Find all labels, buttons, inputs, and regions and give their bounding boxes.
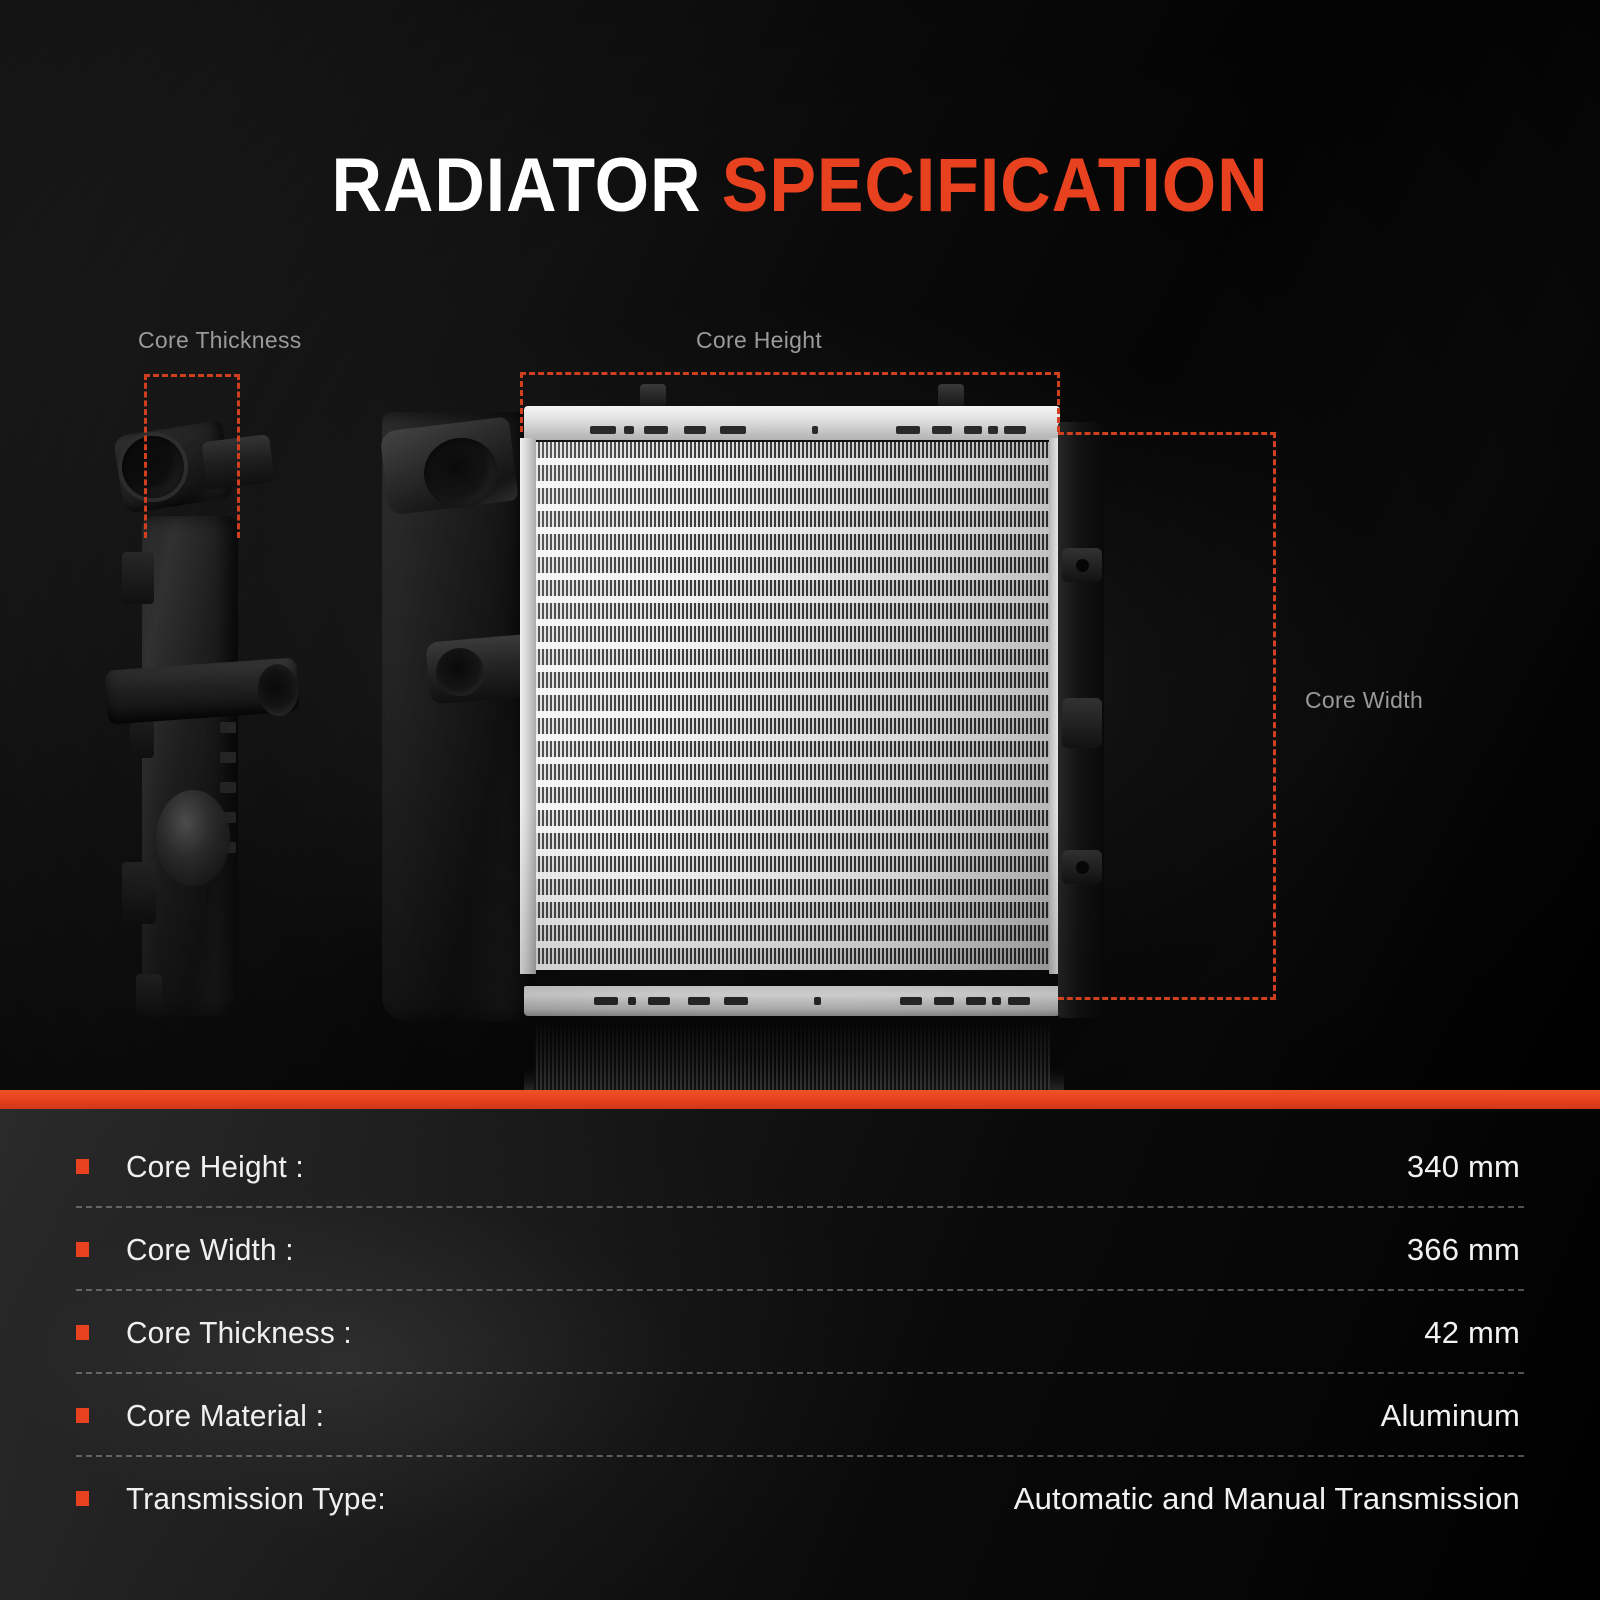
bullet-square-icon [76,1408,89,1423]
specification-panel: Core Height :340 mmCore Width :366 mmCor… [0,1109,1600,1600]
footer-tank-slot [1008,997,1030,1005]
bullet-square-icon [76,1159,89,1174]
core-height-guide-box [520,372,1060,432]
hero-section: Core Thickness Core Height Core Width RA… [0,0,1600,1090]
side-view-mount-tab [122,862,156,924]
page-title: RADIATOR SPECIFICATION [64,146,1536,226]
radiator-core-side-rail [520,438,536,974]
spec-row-value: 42 mm [361,1315,1524,1351]
radiator-lower-hose-opening [436,648,484,696]
spec-row: Core Material :Aluminum [76,1374,1524,1457]
footer-tank-slot [594,997,618,1005]
spec-row-value: Aluminum [332,1398,1524,1434]
side-view-tank-bulge [156,790,230,886]
footer-tank-slot [688,997,710,1005]
product-spec-image: Core Thickness Core Height Core Width RA… [0,0,1600,1600]
spec-row-value: Automatic and Manual Transmission [397,1481,1524,1517]
side-view-mount-tab [136,974,162,1018]
spec-row-label: Core Thickness : [126,1315,352,1351]
spec-row: Core Height :340 mm [76,1125,1524,1208]
footer-tank-slot [934,997,954,1005]
page-title-primary: RADIATOR [332,143,722,228]
spec-row: Core Width :366 mm [76,1208,1524,1291]
spec-row-label: Core Height : [126,1149,304,1185]
footer-tank-slot [648,997,670,1005]
side-view-tank-body [142,516,238,1016]
spec-row-value: 340 mm [311,1149,1524,1185]
specification-table: Core Height :340 mmCore Width :366 mmCor… [76,1125,1524,1540]
bullet-square-icon [76,1325,89,1340]
radiator-bottom-header-tank [524,986,1060,1016]
radiator-core-assembly [520,398,1065,1026]
spec-row: Core Thickness :42 mm [76,1291,1524,1374]
core-thickness-annotation-label: Core Thickness [138,327,302,353]
side-view-ridge [220,722,236,733]
radiator-core-fins [534,442,1050,970]
reflection-tank [524,1068,1064,1090]
footer-tank-slot [628,997,636,1005]
spec-row-label: Transmission Type: [126,1481,386,1517]
spec-row: Transmission Type:Automatic and Manual T… [76,1457,1524,1540]
footer-tank-slot [966,997,986,1005]
spec-row-label: Core Width : [126,1232,294,1268]
footer-tank-slot [724,997,748,1005]
side-view-ridge [220,782,236,793]
core-width-annotation-label: Core Width [1305,687,1423,713]
radiator-front-view-photo [380,398,1100,1038]
radiator-core-shading [534,442,1050,970]
spec-row-value: 366 mm [301,1232,1524,1268]
footer-tank-slot [992,997,1001,1005]
bullet-square-icon [76,1242,89,1257]
core-height-annotation-label: Core Height [696,327,822,353]
side-view-mount-tab [122,552,154,604]
page-title-accent: SPECIFICATION [722,143,1269,228]
footer-tank-slot [814,997,821,1005]
core-thickness-guide-box [144,374,240,538]
bullet-square-icon [76,1491,89,1506]
side-view-ridge [220,752,236,763]
core-width-guide-box [1058,432,1276,1000]
footer-tank-slot [900,997,922,1005]
spec-row-label: Core Material : [126,1398,324,1434]
accent-divider-bar [0,1090,1600,1109]
